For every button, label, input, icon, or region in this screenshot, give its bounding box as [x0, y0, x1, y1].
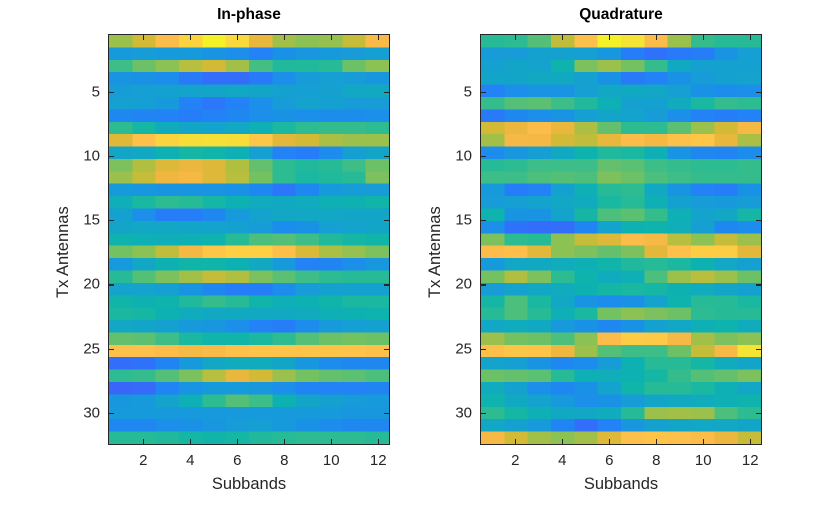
y-tick-mark-right: [756, 413, 761, 414]
x-tick-mark: [190, 439, 191, 444]
y-tick-mark-right: [384, 349, 389, 350]
y-tick-mark-right: [756, 284, 761, 285]
x-axis-label-quadrature: Subbands: [480, 475, 762, 494]
x-tick-mark-top: [143, 35, 144, 40]
x-tick-label: 10: [695, 452, 712, 469]
y-tick-mark-right: [756, 220, 761, 221]
x-tick-label: 4: [558, 452, 566, 469]
panel-title-in-phase: In-phase: [108, 6, 390, 24]
x-tick-mark: [284, 439, 285, 444]
matlab-figure: In-phase 24681012 51015202530 Subbands T…: [0, 0, 840, 506]
y-tick-mark: [481, 92, 486, 93]
y-tick-mark-right: [384, 413, 389, 414]
y-tick-mark-right: [756, 349, 761, 350]
panel-title-quadrature: Quadrature: [480, 6, 762, 24]
x-tick-mark: [331, 439, 332, 444]
heatmap-axes-in-phase[interactable]: [108, 34, 390, 445]
y-tick-label: 25: [68, 340, 100, 357]
x-tick-mark-top: [750, 35, 751, 40]
x-tick-mark-top: [284, 35, 285, 40]
y-tick-mark: [109, 220, 114, 221]
x-tick-mark: [143, 439, 144, 444]
y-tick-mark: [109, 349, 114, 350]
x-tick-mark: [562, 439, 563, 444]
y-tick-label: 25: [440, 340, 472, 357]
heatmap-image-quadrature: [481, 35, 761, 444]
x-tick-mark-top: [190, 35, 191, 40]
x-tick-label: 2: [139, 452, 147, 469]
x-axis-label-in-phase: Subbands: [108, 475, 390, 494]
y-tick-mark: [481, 284, 486, 285]
y-tick-mark-right: [756, 92, 761, 93]
x-tick-mark-top: [562, 35, 563, 40]
x-tick-mark: [656, 439, 657, 444]
y-tick-mark-right: [384, 220, 389, 221]
x-tick-label: 2: [511, 452, 519, 469]
y-tick-label: 5: [440, 83, 472, 100]
panel-quadrature: Quadrature 24681012 51015202530 Subbands…: [480, 34, 762, 445]
x-tick-mark: [609, 439, 610, 444]
x-tick-label: 10: [323, 452, 340, 469]
y-tick-label: 30: [68, 404, 100, 421]
x-tick-mark-top: [609, 35, 610, 40]
x-tick-mark: [750, 439, 751, 444]
y-tick-mark: [481, 220, 486, 221]
x-tick-mark-top: [378, 35, 379, 40]
y-tick-mark-right: [384, 92, 389, 93]
y-tick-mark-right: [384, 284, 389, 285]
x-tick-mark-top: [656, 35, 657, 40]
x-tick-mark-top: [515, 35, 516, 40]
y-tick-mark: [109, 284, 114, 285]
y-tick-mark: [481, 349, 486, 350]
x-tick-mark: [237, 439, 238, 444]
y-tick-mark: [109, 413, 114, 414]
x-tick-label: 8: [652, 452, 660, 469]
y-axis-label-in-phase: Tx Antennas: [54, 206, 73, 298]
heatmap-image-in-phase: [109, 35, 389, 444]
y-tick-label: 30: [440, 404, 472, 421]
y-axis-label-quadrature: Tx Antennas: [426, 206, 445, 298]
x-tick-mark-top: [703, 35, 704, 40]
x-tick-label: 12: [742, 452, 759, 469]
x-tick-label: 4: [186, 452, 194, 469]
y-tick-mark-right: [384, 156, 389, 157]
heatmap-axes-quadrature[interactable]: [480, 34, 762, 445]
x-tick-label: 12: [370, 452, 387, 469]
panel-in-phase: In-phase 24681012 51015202530 Subbands T…: [108, 34, 390, 445]
x-tick-label: 6: [605, 452, 613, 469]
y-tick-mark: [481, 156, 486, 157]
y-tick-label: 10: [68, 148, 100, 165]
y-tick-mark-right: [756, 156, 761, 157]
x-tick-mark-top: [331, 35, 332, 40]
x-tick-label: 8: [280, 452, 288, 469]
x-tick-mark: [703, 439, 704, 444]
x-tick-mark-top: [237, 35, 238, 40]
x-tick-mark: [378, 439, 379, 444]
y-tick-mark: [109, 92, 114, 93]
x-tick-label: 6: [233, 452, 241, 469]
y-tick-mark: [481, 413, 486, 414]
y-tick-mark: [109, 156, 114, 157]
y-tick-label: 5: [68, 83, 100, 100]
y-tick-label: 10: [440, 148, 472, 165]
x-tick-mark: [515, 439, 516, 444]
